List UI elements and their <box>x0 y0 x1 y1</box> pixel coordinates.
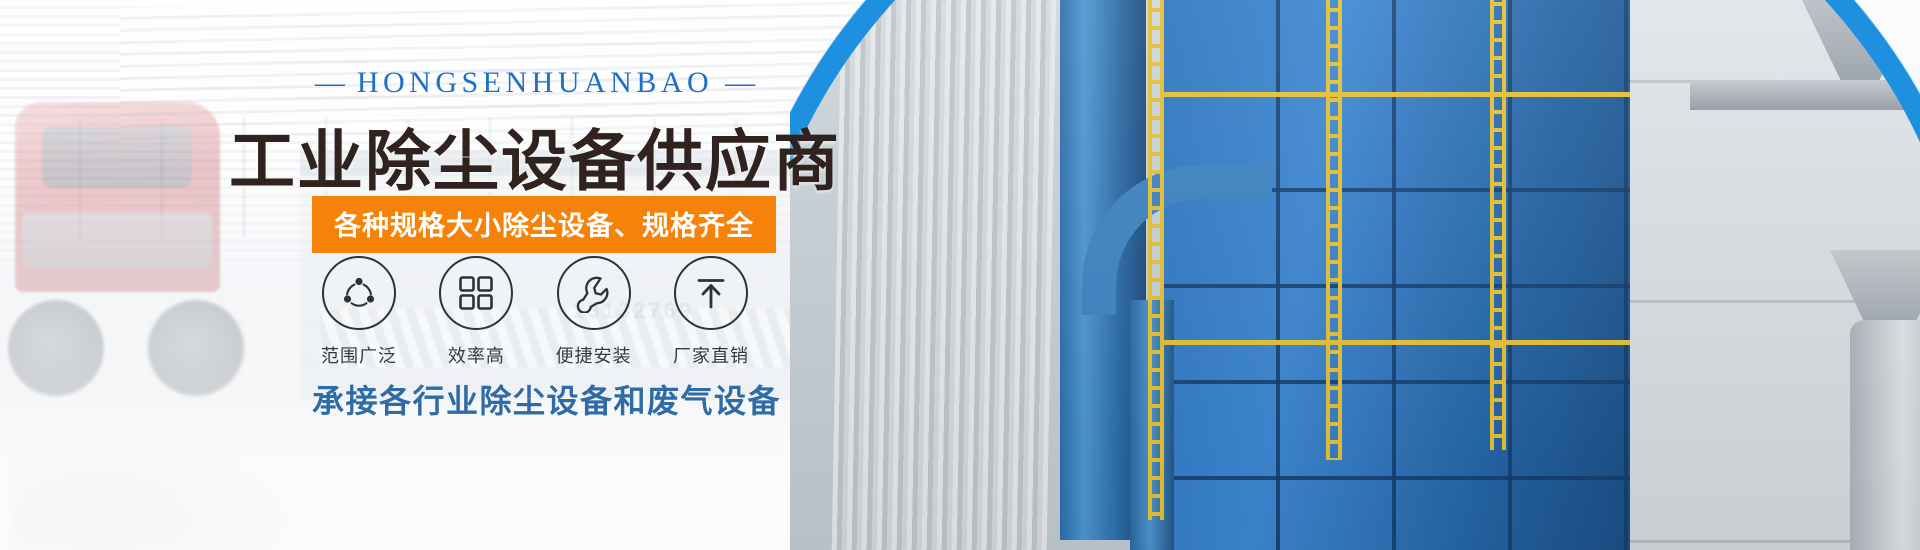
highlight-bar-text: 各种规格大小除尘设备、规格齐全 <box>334 204 754 243</box>
feature-label: 效率高 <box>427 342 525 368</box>
eyebrow-text: HONGSENHUANBAO <box>357 66 713 99</box>
wrench-icon <box>574 273 614 313</box>
feature-item-easy-install[interactable]: 便捷安装 <box>545 256 643 368</box>
brand-eyebrow: —HONGSENHUANBAO— <box>0 66 1070 100</box>
feature-icon-circle <box>674 256 748 330</box>
banner-tagline: 承接各行业除尘设备和废气设备 <box>312 376 781 422</box>
feature-label: 便捷安装 <box>545 342 643 368</box>
hero-banner: 环保 13132769 <box>0 0 1920 550</box>
feature-item-factory-direct[interactable]: 厂家直销 <box>662 256 760 368</box>
banner-content: —HONGSENHUANBAO— 工业除尘设备供应商 各种规格大小除尘设备、规格… <box>0 0 900 550</box>
feature-icon-circle <box>439 256 513 330</box>
arrow-up-bar-icon <box>692 274 730 312</box>
feature-label: 范围广泛 <box>310 342 408 368</box>
highlight-bar: 各种规格大小除尘设备、规格齐全 <box>312 196 776 253</box>
feature-item-high-efficiency[interactable]: 效率高 <box>427 256 525 368</box>
feature-item-wide-range[interactable]: 范围广泛 <box>310 256 408 368</box>
feature-list: 范围广泛 效率高 <box>310 256 760 368</box>
grid-four-squares-icon <box>457 274 495 312</box>
feature-icon-circle <box>557 256 631 330</box>
network-share-icon <box>339 273 379 313</box>
page-title: 工业除尘设备供应商 <box>0 108 1070 204</box>
feature-icon-circle <box>322 256 396 330</box>
eyebrow-dash-right: — <box>713 66 767 99</box>
eyebrow-dash-left: — <box>303 66 357 99</box>
feature-label: 厂家直销 <box>662 342 760 368</box>
